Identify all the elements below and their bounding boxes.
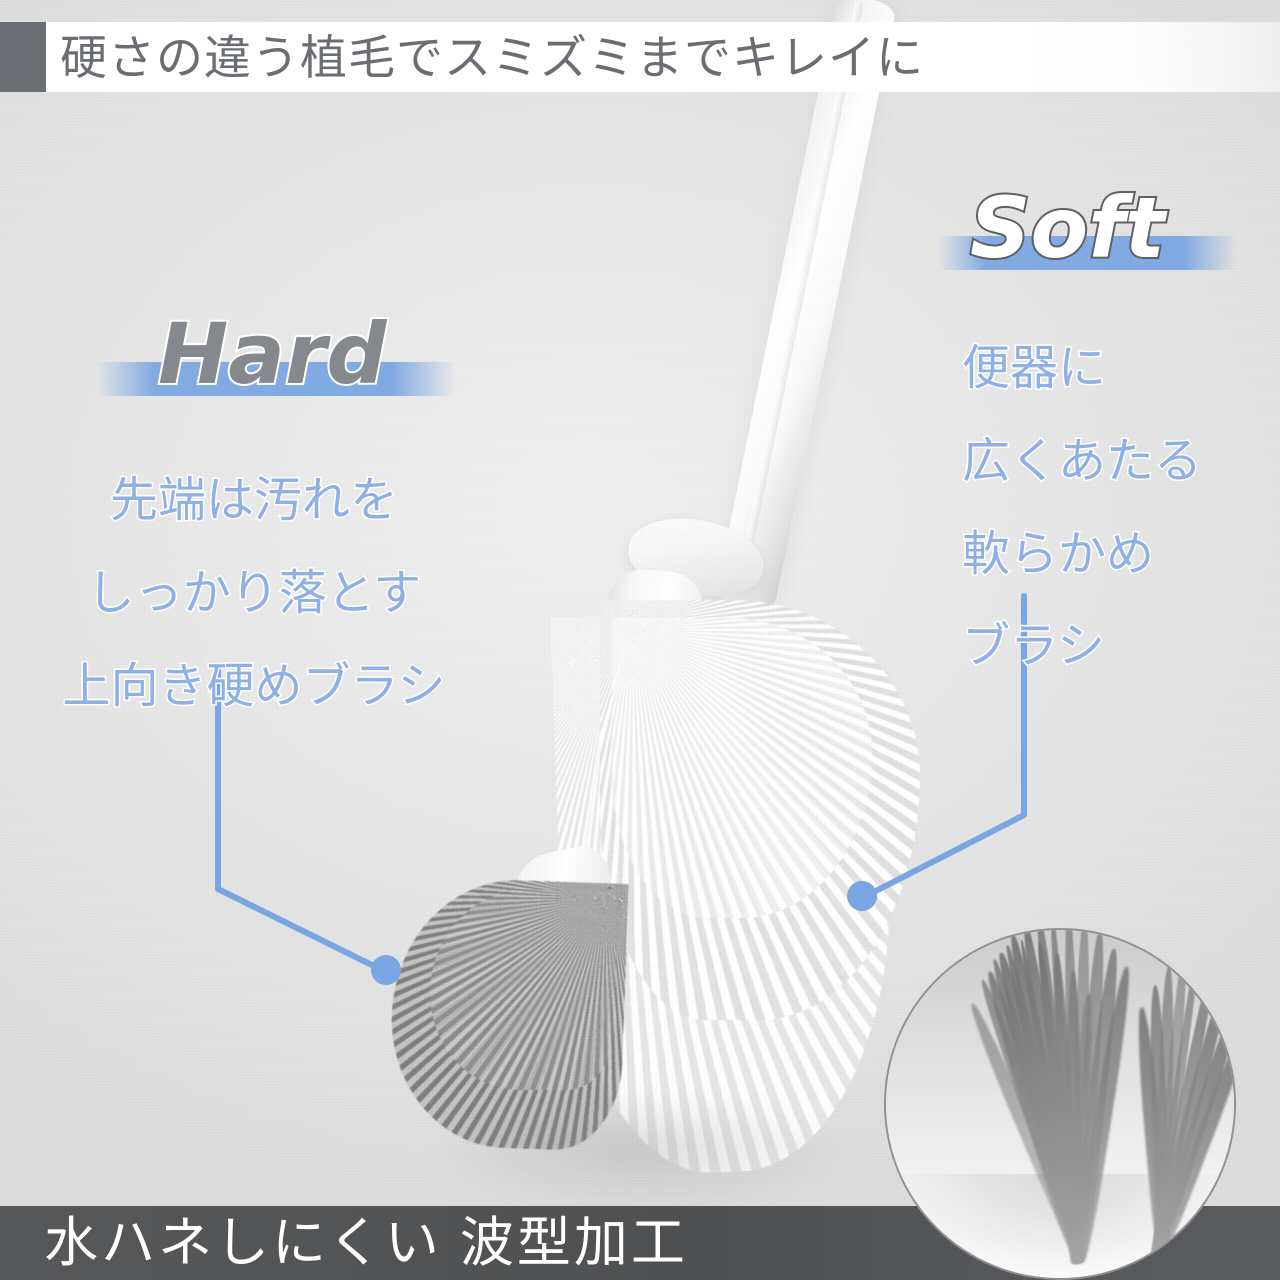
- header-banner-text: 硬さの違う植毛でスミズミまでキレイに: [46, 34, 924, 81]
- hard-title: Hard: [158, 312, 387, 396]
- footer-banner-text: 水ハネしにくい 波型加工: [0, 1216, 688, 1270]
- soft-description-line-4: ブラシ: [962, 619, 1202, 675]
- hard-bristle-tuft-inner: [430, 890, 616, 1090]
- soft-description-line-1: 便器に: [962, 341, 1202, 397]
- hard-description-line-2: しっかり落とす: [44, 566, 464, 622]
- soft-description-line-2: 広くあたる: [962, 434, 1202, 490]
- header-accent-block: [0, 22, 46, 92]
- hard-description-line-3: 上向き硬めブラシ: [44, 659, 464, 715]
- photo-shadow: [430, 1090, 850, 1210]
- soft-title: Soft: [970, 186, 1165, 270]
- hard-description-line-1: 先端は汚れを: [44, 473, 464, 529]
- header-banner-strip: 硬さの違う植毛でスミズミまでキレイに: [46, 22, 1280, 92]
- infographic-canvas: Hard 先端は汚れを しっかり落とす 上向き硬めブラシ Soft 便器に 広く…: [0, 0, 1280, 1280]
- soft-description-line-3: 軟らかめ: [962, 527, 1202, 583]
- soft-description: 便器に 広くあたる 軟らかめ ブラシ: [962, 304, 1202, 712]
- header-banner: 硬さの違う植毛でスミズミまでキレイに: [0, 22, 1280, 92]
- hard-description: 先端は汚れを しっかり落とす 上向き硬めブラシ: [44, 436, 464, 751]
- bristle-closeup-inset: [884, 928, 1236, 1280]
